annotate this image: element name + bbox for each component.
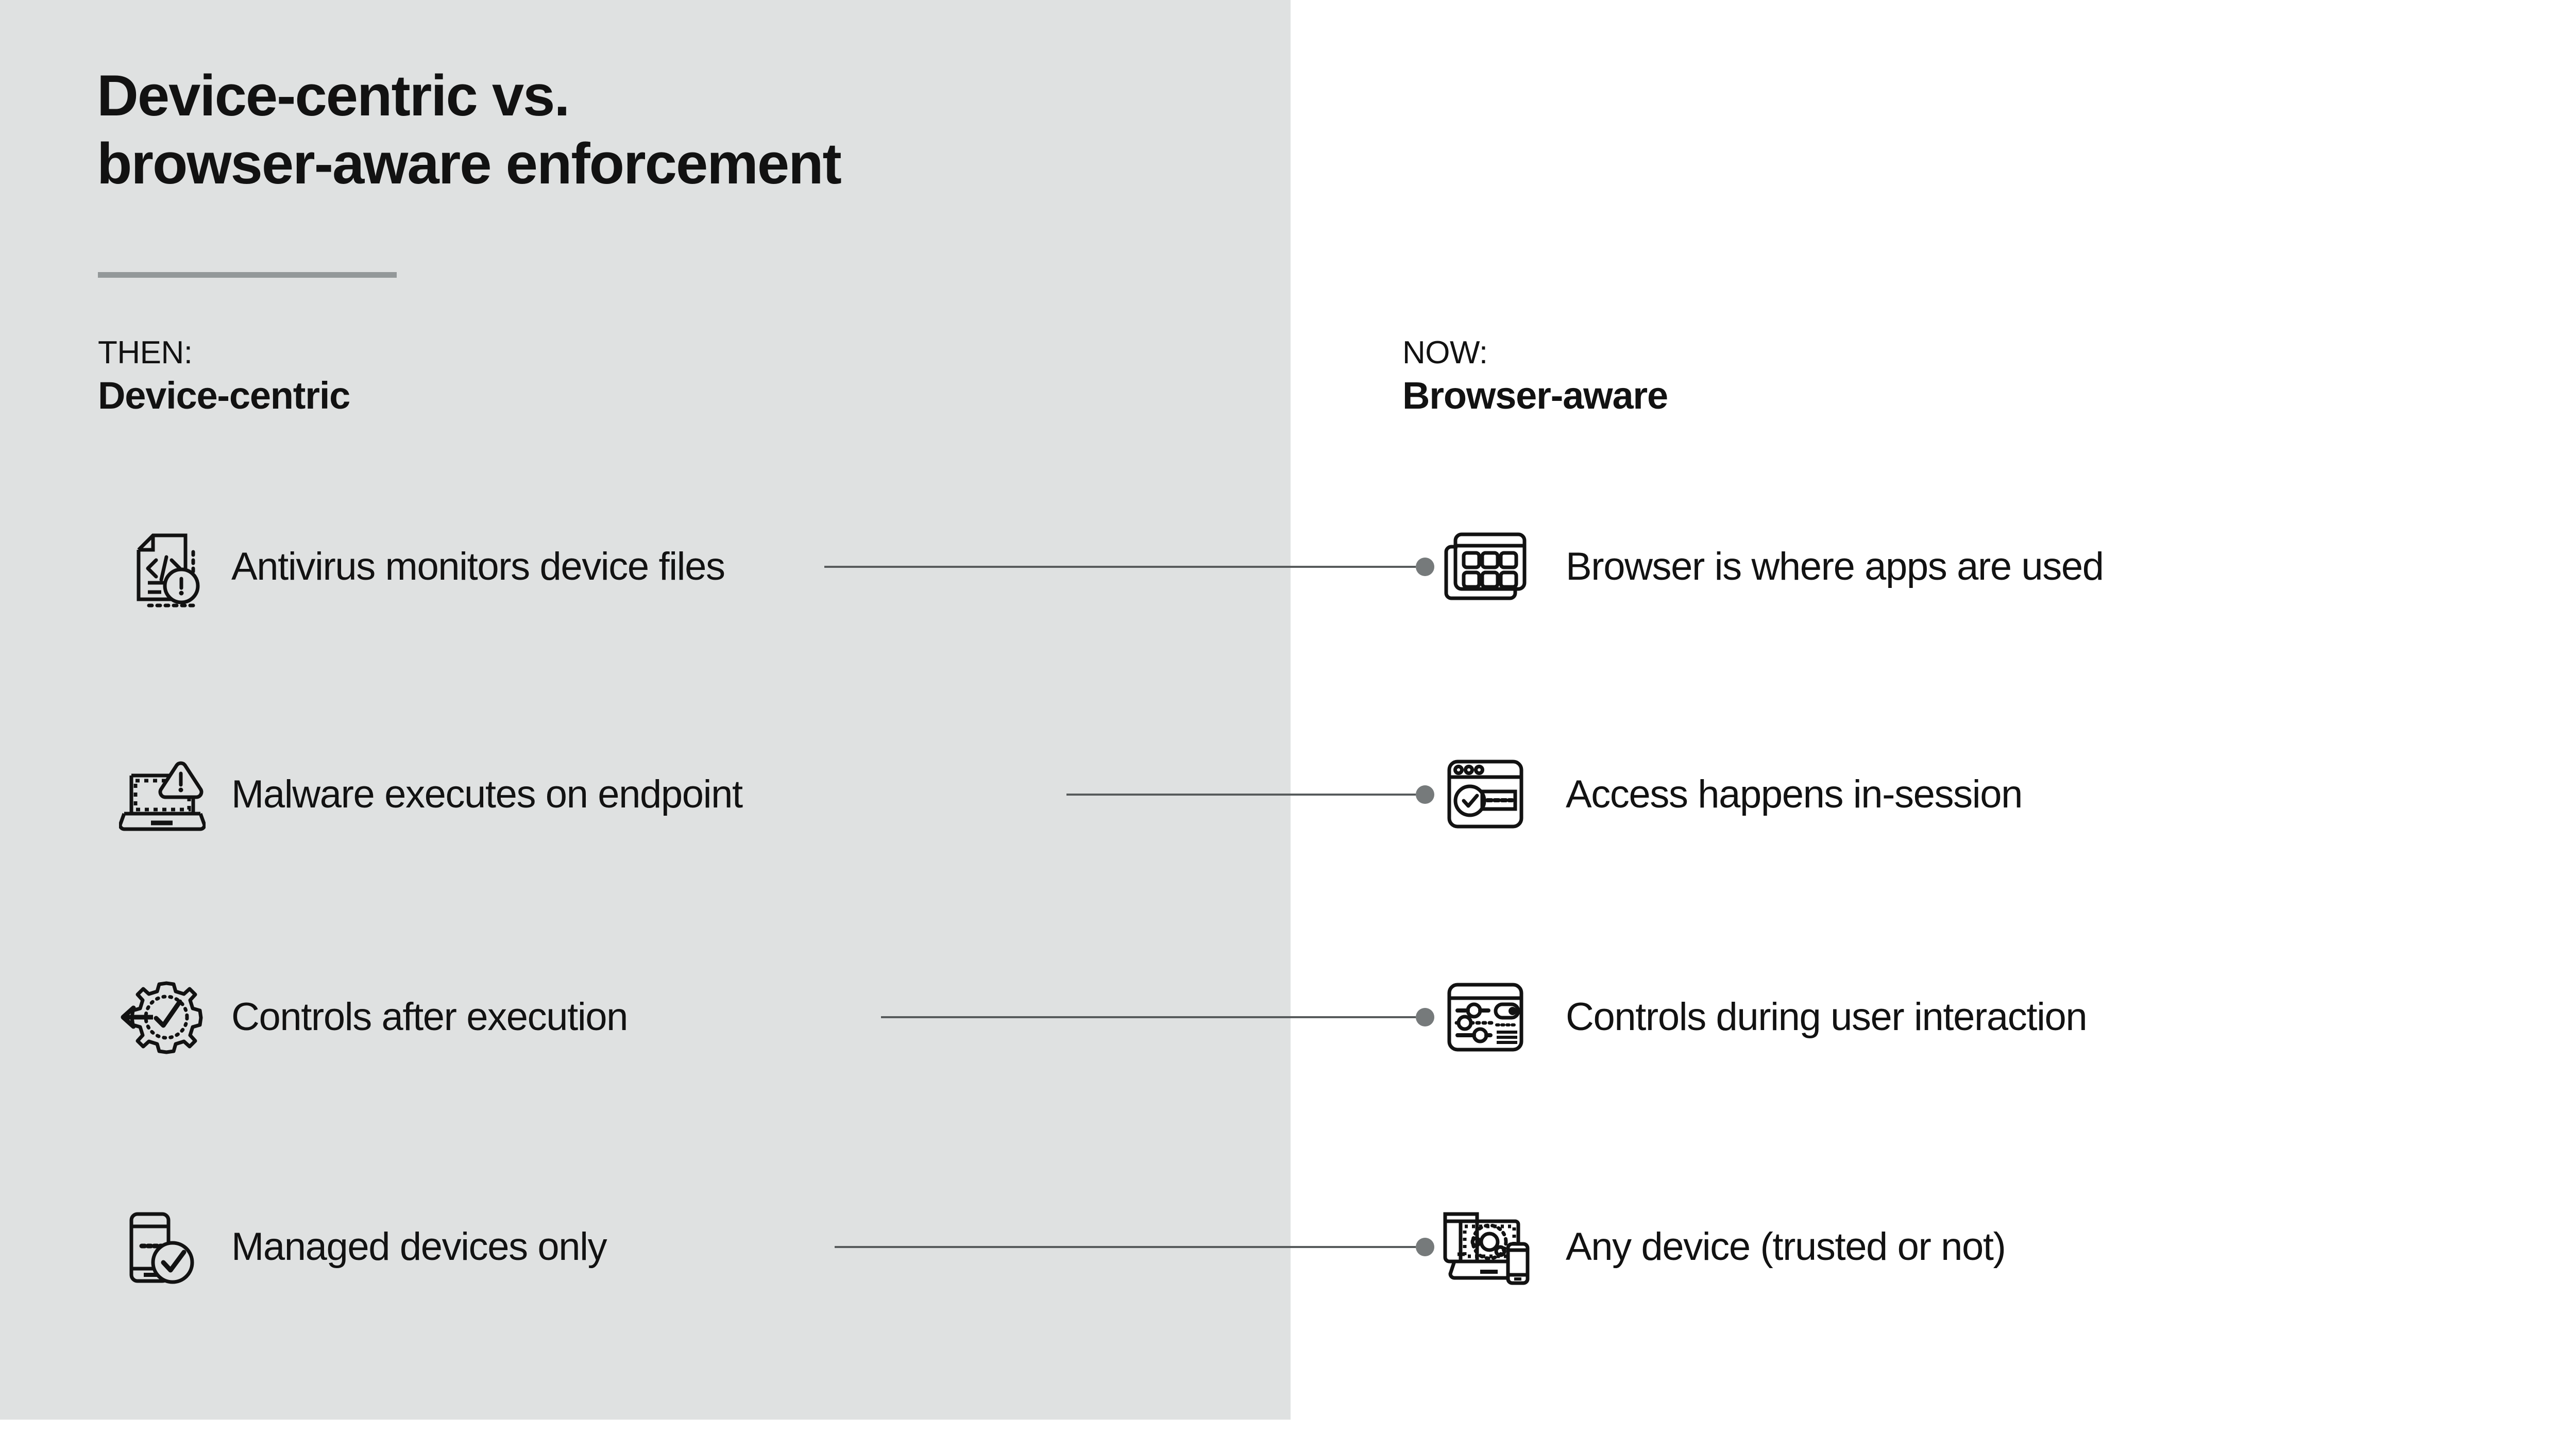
row-connector <box>881 1007 1434 1027</box>
multi-device-network-icon <box>1437 1201 1533 1293</box>
row-right-label: Access happens in-session <box>1566 774 2022 815</box>
column-heading-now: Browser-aware <box>1402 372 1668 420</box>
infographic-canvas: Device-centric vs. browser-aware enforce… <box>0 0 2576 1449</box>
row-left-item: Controls after execution <box>114 971 628 1064</box>
comparison-row: Malware executes on endpoint Access happ… <box>0 748 2576 841</box>
page-title: Device-centric vs. browser-aware enforce… <box>97 62 1179 198</box>
comparison-row: Controls after execution <box>0 971 2576 1064</box>
app-grid-window-icon <box>1437 520 1533 613</box>
row-left-item: Managed devices only <box>114 1201 606 1293</box>
phone-password-check-icon <box>114 1201 210 1293</box>
column-eyebrow-now: NOW: <box>1402 334 1668 372</box>
connector-line <box>1066 794 1416 796</box>
column-header-now: NOW: Browser-aware <box>1402 334 1668 420</box>
row-left-label: Malware executes on endpoint <box>231 774 742 815</box>
connector-line <box>835 1246 1416 1248</box>
row-left-label: Managed devices only <box>231 1226 606 1268</box>
gear-check-rollback-icon <box>114 971 210 1064</box>
settings-sliders-toggle-icon <box>1437 971 1533 1064</box>
row-right-item: Access happens in-session <box>1437 748 2022 841</box>
row-left-label: Antivirus monitors device files <box>231 546 725 587</box>
title-block: Device-centric vs. browser-aware enforce… <box>97 62 1179 198</box>
connector-line <box>824 566 1416 568</box>
connector-endpoint-dot <box>1416 785 1434 804</box>
column-eyebrow-then: THEN: <box>98 334 350 372</box>
column-header-then: THEN: Device-centric <box>98 334 350 420</box>
connector-endpoint-dot <box>1416 1238 1434 1256</box>
row-right-item: Controls during user interaction <box>1437 971 2087 1064</box>
connector-endpoint-dot <box>1416 558 1434 576</box>
laptop-warning-icon <box>114 748 210 841</box>
row-left-item: Malware executes on endpoint <box>114 748 742 841</box>
column-heading-then: Device-centric <box>98 372 350 420</box>
row-right-label: Controls during user interaction <box>1566 997 2087 1038</box>
row-connector <box>1066 784 1434 805</box>
comparison-row: Managed devices only <box>0 1201 2576 1293</box>
code-file-alert-icon <box>114 520 210 613</box>
row-connector <box>824 557 1434 577</box>
row-right-item: Any device (trusted or not) <box>1437 1201 2006 1293</box>
row-left-item: Antivirus monitors device files <box>114 520 725 613</box>
browser-password-check-icon <box>1437 748 1533 841</box>
row-right-label: Browser is where apps are used <box>1566 546 2104 587</box>
row-connector <box>835 1237 1434 1257</box>
comparison-row: Antivirus monitors device files Browser … <box>0 520 2576 613</box>
connector-line <box>881 1016 1416 1018</box>
title-divider-rule <box>98 272 397 278</box>
row-right-item: Browser is where apps are used <box>1437 520 2104 613</box>
connector-endpoint-dot <box>1416 1008 1434 1026</box>
row-left-label: Controls after execution <box>231 997 628 1038</box>
row-right-label: Any device (trusted or not) <box>1566 1226 2006 1268</box>
